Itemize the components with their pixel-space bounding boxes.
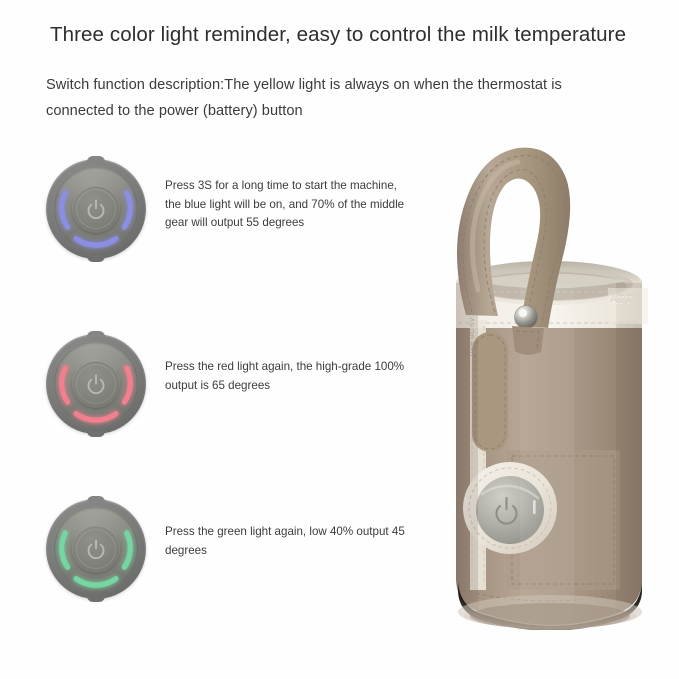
strap-tail (512, 326, 544, 355)
dial-green[interactable] (42, 495, 150, 603)
step-description: Press the green light again, low 40% out… (165, 523, 410, 560)
step-green-light: Press the green light again, low 40% out… (0, 495, 420, 615)
power-button-cap[interactable] (72, 525, 120, 573)
step-red-light: Press the red light again, the high-grad… (0, 330, 420, 450)
body-shade-left (456, 283, 478, 628)
power-icon (85, 538, 107, 560)
product-photo: USB DC 5V 2A ATT (420, 120, 679, 630)
step-description: Press the red light again, the high-grad… (165, 358, 410, 395)
snap-highlight (519, 309, 527, 317)
step-blue-light: Press 3S for a long time to start the ma… (0, 155, 420, 275)
indicator-steps-list: Press 3S for a long time to start the ma… (0, 0, 420, 679)
dial-red[interactable] (42, 330, 150, 438)
power-button-cap[interactable] (72, 185, 120, 233)
body-shade-right (616, 283, 642, 628)
power-icon (85, 198, 107, 220)
base-underside (470, 603, 630, 629)
power-icon (85, 373, 107, 395)
power-button-cap[interactable] (72, 360, 120, 408)
bottle-warmer-illustration (420, 120, 679, 630)
infographic-page: Three color light reminder, easy to cont… (0, 0, 679, 679)
step-description: Press 3S for a long time to start the ma… (165, 177, 410, 233)
emboss-zone (608, 288, 648, 324)
dial-blue[interactable] (42, 155, 150, 263)
